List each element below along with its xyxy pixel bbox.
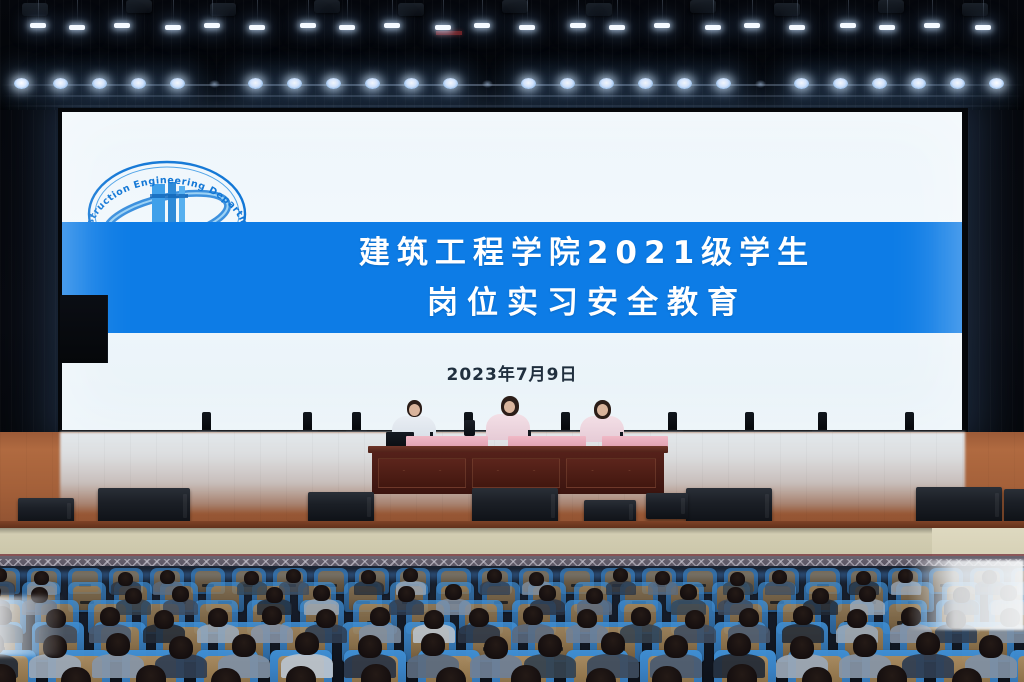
audience-member-head	[118, 572, 133, 586]
audience-member-head	[577, 609, 597, 628]
head-table	[368, 436, 668, 496]
floor-monitor-speaker	[646, 493, 688, 519]
audience-member-head	[125, 588, 142, 604]
table-chevron-trim	[574, 470, 648, 480]
floor-monitor-speaker	[686, 488, 772, 524]
truss-stage-light	[170, 78, 185, 89]
truss-stage-light	[833, 78, 848, 89]
stage-light	[924, 23, 940, 28]
stage-mic-post	[202, 412, 211, 431]
floor-monitor-speaker	[472, 488, 558, 524]
audience-member-shoulders	[480, 581, 510, 595]
light-hanger-rod	[887, 0, 888, 23]
stage-light	[654, 23, 670, 28]
audience-member-head	[445, 584, 462, 600]
audience-member-head	[370, 607, 390, 626]
slide-title: 建筑工程学院2021级学生 岗位实习安全教育	[212, 228, 962, 328]
audience-member-head	[169, 636, 193, 659]
stage-mic-post	[303, 412, 312, 431]
seat-cushion	[1018, 656, 1024, 682]
stage-light	[30, 23, 46, 28]
audience-member-head	[916, 632, 940, 655]
light-hanger-rod	[797, 0, 798, 23]
audience-member-head	[100, 607, 120, 626]
stage-light	[705, 25, 721, 30]
hanging-light-fixture	[126, 0, 152, 13]
audience-member-head	[286, 569, 301, 583]
audience-member-head	[232, 634, 256, 657]
audience-member-head	[979, 635, 1003, 658]
auditorium-scene: Construction Engineering Department 2007…	[0, 0, 1024, 682]
stage-mic-post	[818, 412, 827, 431]
light-hanger-rod	[578, 0, 579, 23]
slide-title-line-1: 建筑工程学院2021级学生	[212, 228, 962, 278]
audience-member-head	[295, 632, 319, 655]
audience-member-head	[859, 586, 876, 602]
light-hanger-rod	[932, 0, 933, 23]
floor-monitor-speaker	[308, 492, 374, 522]
truss-stage-light	[131, 78, 146, 89]
audience-member-head	[790, 636, 814, 659]
stage-light	[339, 25, 355, 30]
audience-member-shoulders	[251, 624, 293, 643]
truss-bar	[0, 84, 1024, 86]
truss-stage-light	[911, 78, 926, 89]
light-hanger-rod	[848, 0, 849, 23]
audience-member-head	[772, 570, 787, 584]
stage-light	[69, 25, 85, 30]
floor-monitor-speaker	[1004, 489, 1024, 523]
truss-stage-light	[716, 78, 731, 89]
audience-member-head	[154, 610, 174, 629]
truss-stage-light	[443, 78, 458, 89]
audience-member-head	[793, 606, 813, 625]
audience-member-head	[424, 610, 444, 629]
hanging-light-fixture	[22, 3, 48, 16]
presenter-face	[597, 404, 608, 416]
audience-member-shoulders	[0, 581, 15, 595]
stage-mic-post	[668, 412, 677, 431]
audience-member-shoulders	[279, 581, 309, 595]
audience-member-head	[655, 571, 670, 585]
hanging-light-fixture	[962, 3, 988, 16]
truss-stage-light	[599, 78, 614, 89]
table-chevron-trim	[480, 470, 552, 480]
stage-light	[435, 25, 451, 30]
truss-stage-light	[326, 78, 341, 89]
audience-member-head	[847, 609, 867, 628]
hanging-light-fixture	[210, 3, 236, 16]
table-panel	[378, 458, 466, 488]
light-hanger-rod	[443, 0, 444, 23]
stage-light	[165, 25, 181, 30]
ceiling-rigging	[0, 0, 1024, 118]
truss-stage-light	[872, 78, 887, 89]
stage-mic-post	[561, 412, 570, 431]
table-panel	[472, 458, 560, 488]
audience-member-head	[313, 585, 330, 601]
audience-member-head	[358, 635, 382, 658]
audience-member-head	[739, 608, 759, 627]
light-hanger-rod	[212, 0, 213, 23]
audience-member-head	[601, 632, 625, 655]
audience-member-head	[266, 587, 283, 603]
audience-member-head	[484, 636, 508, 659]
light-hanger-rod	[77, 0, 78, 23]
truss-stage-light	[14, 78, 29, 89]
stage-light	[474, 23, 490, 28]
audience-member-head	[538, 634, 562, 657]
truss-stage-light	[209, 80, 220, 88]
light-hanger-rod	[527, 0, 528, 23]
light-hanger-rod	[983, 0, 984, 23]
ceiling-drape	[0, 0, 1024, 118]
audience-member-head	[529, 572, 544, 586]
slide-title-line-2: 岗位实习安全教育	[212, 278, 962, 328]
audience-member-head	[856, 571, 871, 585]
hanging-light-fixture	[878, 0, 904, 13]
audience-seating	[0, 566, 1024, 682]
stage-light	[744, 23, 760, 28]
audience-member-head	[812, 588, 829, 604]
truss-stage-light	[482, 80, 493, 88]
audience-member-head	[316, 609, 336, 628]
house-wall-shadow	[0, 528, 1024, 534]
light-hanger-rod	[713, 0, 714, 23]
light-hanger-rod	[617, 0, 618, 23]
audience-member-shoulders	[902, 654, 954, 678]
truss-bar	[0, 105, 1024, 107]
stage-mic-post	[352, 412, 361, 431]
stage-mic-post	[905, 412, 914, 431]
audience-member-head	[262, 606, 282, 625]
truss-stage-light	[794, 78, 809, 89]
stage-light	[114, 23, 130, 28]
audience-member-head	[539, 585, 556, 601]
stage-mic-post	[745, 412, 754, 431]
audience-member-head	[403, 568, 418, 582]
slide-date: 2023年7月9日	[62, 360, 962, 385]
stage-light	[519, 25, 535, 30]
audience-member-head	[727, 664, 757, 682]
truss-bar	[0, 95, 1024, 97]
audience-member-head	[361, 570, 376, 584]
stage-light	[975, 25, 991, 30]
truss-stage-light	[287, 78, 302, 89]
hanging-light-fixture	[586, 3, 612, 16]
truss-stage-light	[989, 78, 1004, 89]
audience-member-head	[487, 569, 502, 583]
audience-member-head	[685, 610, 705, 629]
truss-stage-light	[521, 78, 536, 89]
stage-light	[570, 23, 586, 28]
stage-light	[300, 23, 316, 28]
light-hanger-rod	[752, 0, 753, 23]
exit-light-right	[908, 560, 1024, 630]
audience-member-head	[586, 588, 603, 604]
audience-member-head	[631, 607, 651, 626]
audience-member-head	[664, 635, 688, 658]
stage-light	[384, 23, 400, 28]
side-monitor-panel	[60, 295, 108, 363]
stage-light	[789, 25, 805, 30]
truss-stage-light	[560, 78, 575, 89]
audience-member-head	[160, 570, 175, 584]
light-hanger-rod	[482, 0, 483, 23]
truss-stage-light	[404, 78, 419, 89]
audience-member-head	[361, 664, 391, 682]
accent-strip-light	[436, 31, 462, 35]
audience-member-head	[727, 587, 744, 603]
audience-member-head	[853, 634, 877, 657]
audience-member-head	[398, 586, 415, 602]
truss-stage-light	[53, 78, 68, 89]
audience-member-head	[172, 586, 189, 602]
audience-member-head	[523, 606, 543, 625]
light-hanger-rod	[122, 0, 123, 23]
truss-stage-light	[950, 78, 965, 89]
led-screen: Construction Engineering Department 2007…	[62, 112, 962, 430]
audience-member-head	[469, 608, 489, 627]
stage-light	[879, 25, 895, 30]
audience-member-shoulders	[606, 581, 636, 595]
stage-light	[609, 25, 625, 30]
stage-light	[840, 23, 856, 28]
audience-member-shoulders	[620, 624, 662, 643]
truss-stage-light	[248, 78, 263, 89]
hanging-light-fixture	[398, 3, 424, 16]
light-hanger-rod	[257, 0, 258, 23]
audience-member-head	[34, 571, 49, 585]
floor-monitor-speaker	[98, 488, 190, 524]
audience-member-head	[727, 633, 751, 656]
truss-stage-light	[677, 78, 692, 89]
audience-member-head	[730, 572, 745, 586]
audience-member-head	[244, 571, 259, 585]
hanging-light-fixture	[314, 0, 340, 13]
truss-stage-light	[365, 78, 380, 89]
stage-light	[204, 23, 220, 28]
audience-member-head	[613, 568, 628, 582]
light-hanger-rod	[662, 0, 663, 23]
table-chevron-trim	[386, 470, 458, 480]
light-hanger-rod	[392, 0, 393, 23]
truss-stage-light	[638, 78, 653, 89]
presenter-face	[504, 401, 515, 413]
audience-member-head	[680, 584, 697, 600]
presenter-face	[409, 404, 420, 416]
stage-light	[249, 25, 265, 30]
light-hanger-rod	[308, 0, 309, 23]
audience-member-head	[208, 608, 228, 627]
hanging-light-fixture	[502, 0, 528, 13]
truss-stage-light	[92, 78, 107, 89]
truss-stage-light	[755, 80, 766, 88]
light-hanger-rod	[173, 0, 174, 23]
audience-member-head	[421, 633, 445, 656]
table-panel	[566, 458, 656, 488]
light-hanger-rod	[347, 0, 348, 23]
audience-member-head	[106, 633, 130, 656]
speaker-box	[464, 420, 475, 436]
exit-light-left	[0, 596, 64, 656]
light-hanger-rod	[38, 0, 39, 23]
floor-monitor-speaker	[916, 487, 1002, 523]
